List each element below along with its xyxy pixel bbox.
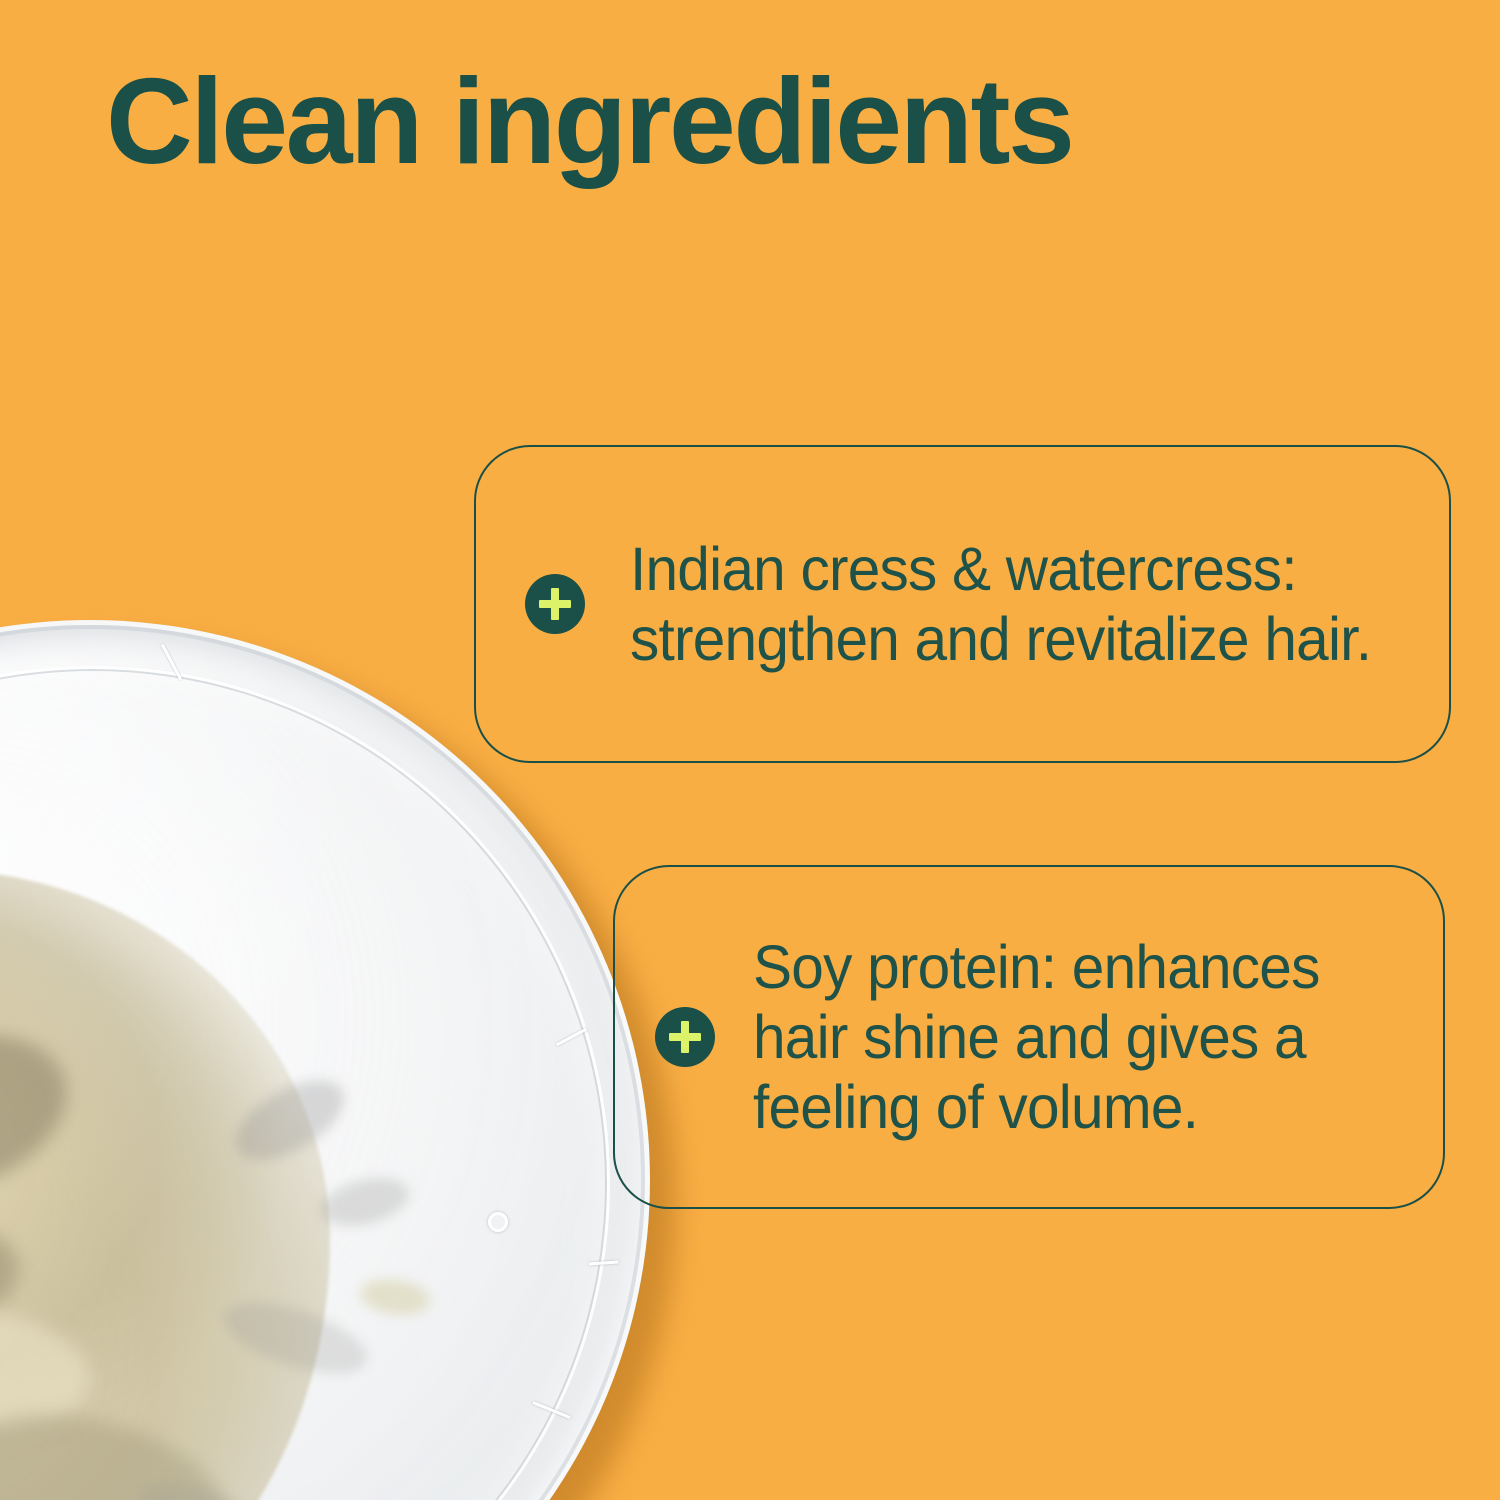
dish-tick-mark (556, 1028, 587, 1047)
ingredient-card-2-text: Soy protein: enhances hair shine and giv… (753, 932, 1383, 1142)
dish-tick-mark (588, 1260, 618, 1265)
plus-icon (525, 574, 585, 634)
ingredient-card-1-text: Indian cress & watercress: strengthen an… (630, 534, 1378, 674)
powder-highlight-detail (0, 1298, 96, 1441)
dish-bubble-mark (488, 1212, 508, 1232)
ingredients-infographic: Clean ingredients Indian cress & watercr… (0, 0, 1500, 1500)
ingredient-card-1: Indian cress & watercress: strengthen an… (474, 445, 1451, 763)
powder-dust (124, 1462, 325, 1500)
dish-tick-mark (532, 1401, 570, 1419)
powder-dust (358, 1275, 432, 1318)
powder-mound (0, 870, 330, 1500)
powder-dust (316, 1170, 414, 1234)
plus-icon (655, 1007, 715, 1067)
powder-shadow-detail (0, 1388, 243, 1500)
ingredient-card-2: Soy protein: enhances hair shine and giv… (613, 865, 1445, 1209)
powder-dust (215, 1288, 375, 1388)
dish-inner-ring (0, 666, 610, 1500)
dish-tick-mark (161, 644, 182, 681)
page-title: Clean ingredients (106, 60, 1072, 182)
powder-shadow-detail (0, 1200, 28, 1370)
powder-shadow-detail (0, 1007, 87, 1224)
dish-shadow (0, 642, 676, 1500)
powder-dust (223, 1064, 357, 1176)
